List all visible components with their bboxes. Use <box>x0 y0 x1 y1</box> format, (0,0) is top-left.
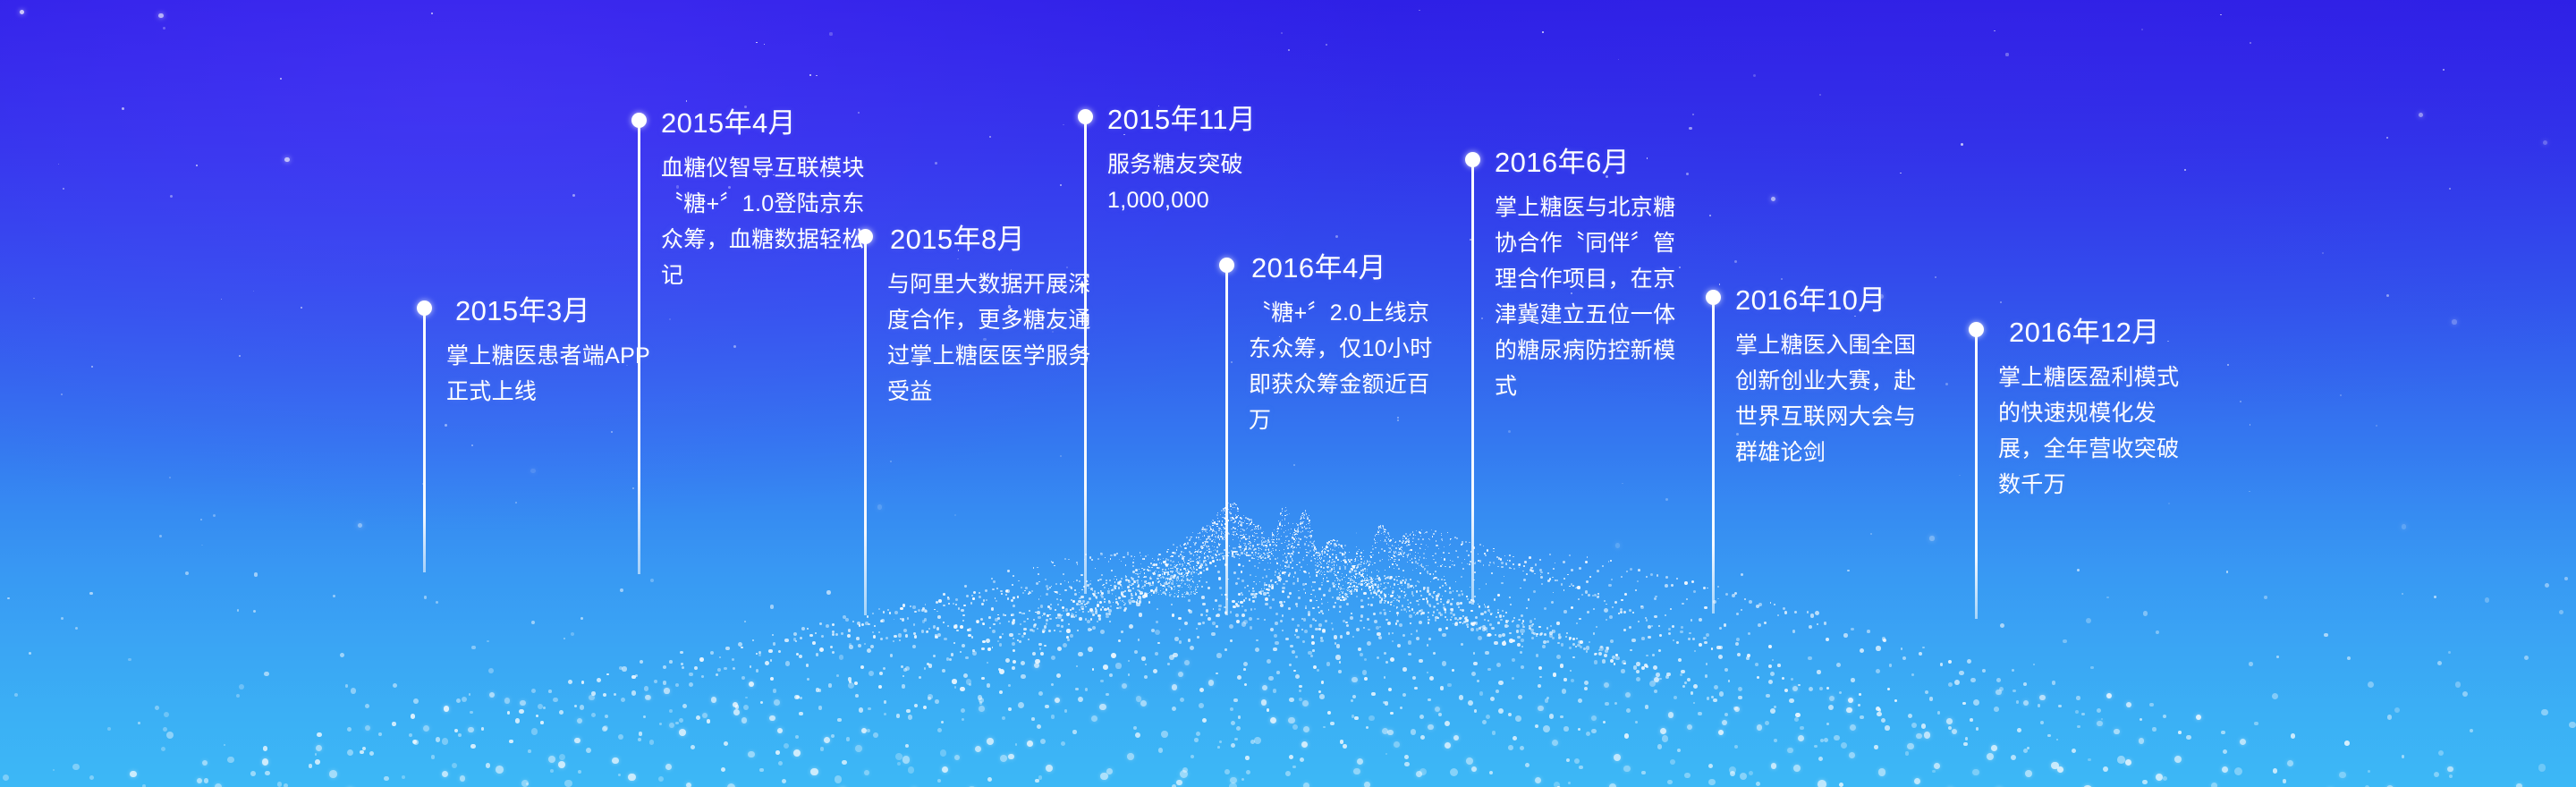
timeline-entry-description: 与阿里大数据开展深度合作，更多糖友通过掌上糖医医学服务受益 <box>887 267 1093 410</box>
timeline-entry-description: 掌上糖医与北京糖协合作〝同伴〞管理合作项目，在京津冀建立五位一体的糖尿病防控新模… <box>1495 190 1690 404</box>
timeline-entry-description: 〝糖+〞2.0上线京东众筹，仅10小时即获众筹金额近百万 <box>1249 295 1445 438</box>
timeline-stem-line <box>1471 163 1474 605</box>
timeline-entry-text: 2015年8月与阿里大数据开展深度合作，更多糖友通过掌上糖医医学服务受益 <box>887 222 1093 410</box>
timeline-entry-date: 2016年4月 <box>1251 250 1445 286</box>
timeline-entry-text: 2015年4月血糖仪智导互联模块〝糖+〞1.0登陆京东众筹，血糖数据轻松记 <box>661 106 867 293</box>
timeline-track: 2015年3月掌上糖医患者端APP正式上线2015年4月血糖仪智导互联模块〝糖+… <box>0 0 2576 787</box>
timeline-entry-date: 2015年11月 <box>1107 102 1331 138</box>
timeline-entry-text: 2016年12月掌上糖医盈利模式的快速规模化发展，全年营收突破数千万 <box>1998 315 2195 503</box>
timeline-entry-description: 掌上糖医盈利模式的快速规模化发展，全年营收突破数千万 <box>1998 360 2195 503</box>
timeline-entry-text: 2015年11月服务糖友突破1,000,000 <box>1107 102 1331 218</box>
timeline-stem-line <box>1712 300 1715 614</box>
timeline-entry-description: 服务糖友突破1,000,000 <box>1107 147 1331 218</box>
timeline-entry-text: 2015年3月掌上糖医患者端APP正式上线 <box>446 293 670 410</box>
timeline-entry-date: 2016年6月 <box>1495 145 1690 181</box>
timeline-entry-text: 2016年6月掌上糖医与北京糖协合作〝同伴〞管理合作项目，在京津冀建立五位一体的… <box>1495 145 1690 404</box>
timeline-infographic: 2015年3月掌上糖医患者端APP正式上线2015年4月血糖仪智导互联模块〝糖+… <box>0 0 2576 787</box>
timeline-entry-text: 2016年4月〝糖+〞2.0上线京东众筹，仅10小时即获众筹金额近百万 <box>1249 250 1445 438</box>
timeline-stem-line <box>864 240 867 615</box>
timeline-entry-date: 2016年12月 <box>2009 315 2195 351</box>
timeline-entry-description: 掌上糖医患者端APP正式上线 <box>446 338 670 410</box>
timeline-stem-line <box>1975 333 1978 619</box>
timeline-entry-date: 2016年10月 <box>1735 283 1932 318</box>
timeline-stem-line <box>1225 268 1228 615</box>
timeline-stem-line <box>1084 120 1087 594</box>
timeline-entry-description: 血糖仪智导互联模块〝糖+〞1.0登陆京东众筹，血糖数据轻松记 <box>661 150 867 293</box>
timeline-stem-line <box>423 311 426 572</box>
timeline-entry-date: 2015年8月 <box>890 222 1093 258</box>
timeline-entry-text: 2016年10月掌上糖医入围全国创新创业大赛，赴世界互联网大会与群雄论剑 <box>1735 283 1932 470</box>
timeline-entry-description: 掌上糖医入围全国创新创业大赛，赴世界互联网大会与群雄论剑 <box>1735 327 1932 470</box>
timeline-stem-line <box>638 123 640 574</box>
timeline-entry-date: 2015年4月 <box>661 106 867 141</box>
